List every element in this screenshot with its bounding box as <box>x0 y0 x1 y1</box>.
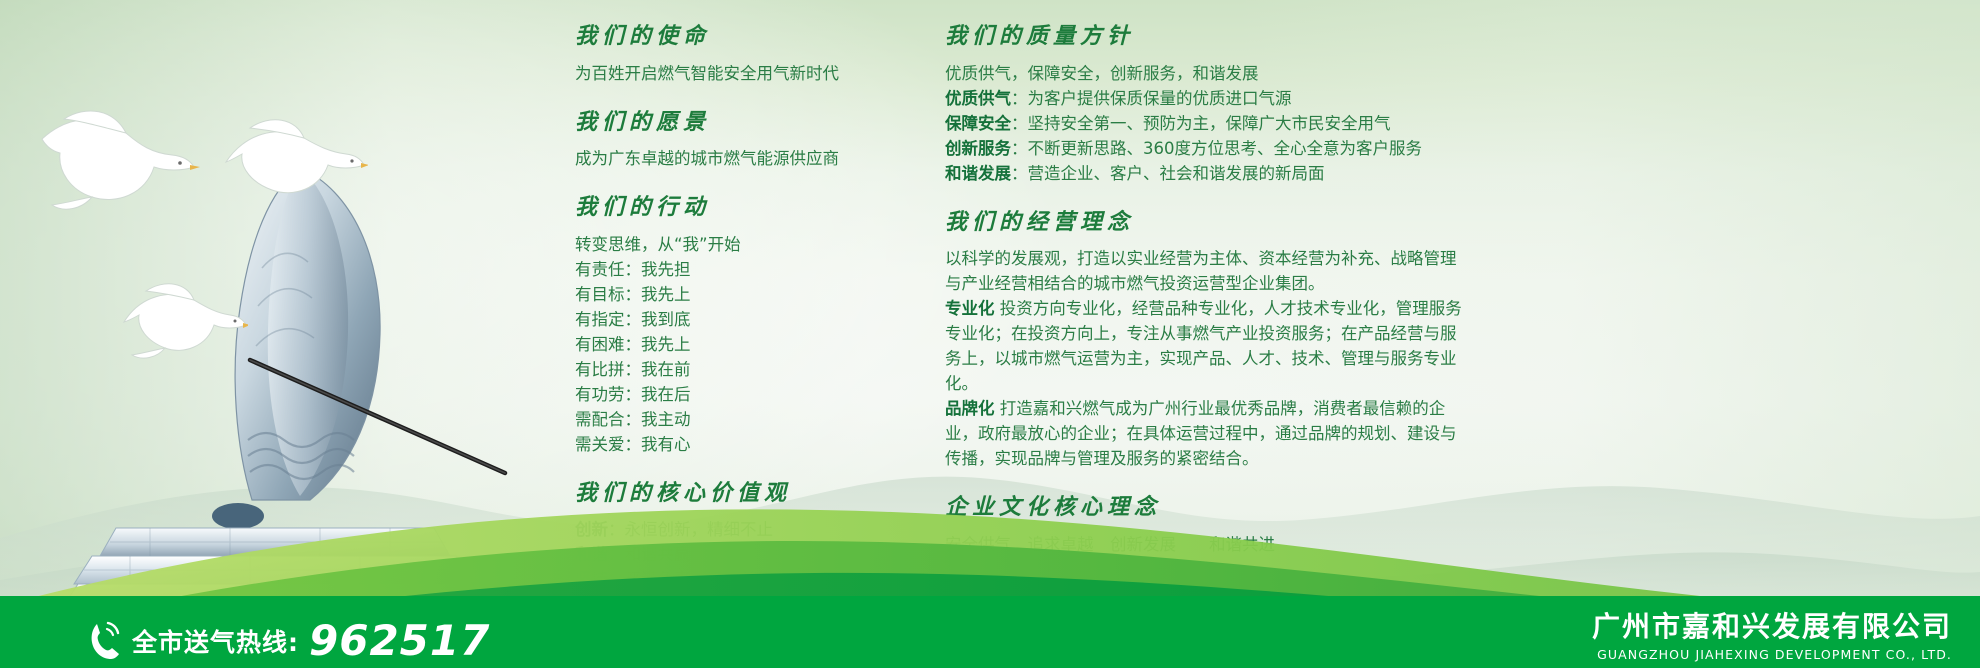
section-mission: 我们的使命 为百姓开启燃气智能安全用气新时代 <box>575 22 925 86</box>
management-philosophy-text: 投资方向专业化，经营品种专业化，人才技术专业化，管理服务专业化；在投资方向上，专… <box>945 299 1462 393</box>
dove-icon <box>218 112 368 204</box>
management-philosophy-lead: 品牌化 <box>945 399 995 418</box>
action-item: 需关爱：我有心 <box>575 432 925 457</box>
action-item: 有目标：我先上 <box>575 282 925 307</box>
dove-icon <box>30 105 210 215</box>
action-intro: 转变思维，从“我”开始 <box>575 232 925 257</box>
hotline-label: 全市送气热线: <box>132 623 299 659</box>
core-value-text: 严谨负责，坚持前行 <box>625 570 774 589</box>
quality-policy-text: 为客户提供保质保量的优质进口气源 <box>1028 89 1292 108</box>
core-value-item: 坚持：严谨负责，坚持前行 <box>575 567 925 592</box>
mission-line: 为百姓开启燃气智能安全用气新时代 <box>575 61 925 86</box>
right-text-column: 我们的质量方针 优质供气，保障安全，创新服务，和谐发展 优质供气：为客户提供保质… <box>945 22 1465 573</box>
management-philosophy-item: 品牌化 打造嘉和兴燃气成为广州行业最优秀品牌，消费者最信赖的企业，政府最放心的企… <box>945 396 1465 471</box>
section-culture-core: 企业文化核心理念 安全供气 追求卓越 创新发展 和谐共进 <box>945 493 1465 557</box>
section-vision: 我们的愿景 成为广东卓越的城市燃气能源供应商 <box>575 108 925 172</box>
quality-policy-lead: 优质供气 <box>945 89 1011 108</box>
vision-line: 成为广东卓越的城市燃气能源供应商 <box>575 146 925 171</box>
quality-policy-text: 不断更新思路、360度方位思考、全心全意为客户服务 <box>1028 139 1423 158</box>
quality-policy-lead: 保障安全 <box>945 114 1011 133</box>
action-item: 有责任：我先担 <box>575 257 925 282</box>
quality-policy-item: 保障安全：坚持安全第一、预防为主，保障广大市民安全用气 <box>945 111 1465 136</box>
core-value-lead: 创新 <box>575 520 608 539</box>
section-action: 我们的行动 转变思维，从“我”开始 有责任：我先担 有目标：我先上 有指定：我到… <box>575 193 925 457</box>
quality-policy-item: 创新服务：不断更新思路、360度方位思考、全心全意为客户服务 <box>945 136 1465 161</box>
culture-core-line: 安全供气 追求卓越 创新发展 和谐共进 <box>945 532 1465 557</box>
action-item: 需配合：我主动 <box>575 407 925 432</box>
action-item: 有困难：我先上 <box>575 332 925 357</box>
action-title: 我们的行动 <box>575 193 925 222</box>
management-philosophy-lead: 专业化 <box>945 299 995 318</box>
core-values-title: 我们的核心价值观 <box>575 479 925 508</box>
management-philosophy-title: 我们的经营理念 <box>945 208 1465 237</box>
hotline-block: 全市送气热线: 962517 <box>88 620 490 662</box>
company-block: 广州市嘉和兴发展有限公司 GUANGZHOU JIAHEXING DEVELOP… <box>1592 610 1952 662</box>
stone-monument-illustration <box>0 148 560 668</box>
section-management-philosophy: 我们的经营理念 以科学的发展观，打造以实业经营为主体、资本经营为补充、战略管理与… <box>945 208 1465 472</box>
poster-root: 我们的使命 为百姓开启燃气智能安全用气新时代 我们的愿景 成为广东卓越的城市燃气… <box>0 0 1980 668</box>
core-value-sep: ： <box>608 545 625 564</box>
core-value-lead: 坚持 <box>575 570 608 589</box>
quality-policy-text: 营造企业、客户、社会和谐发展的新局面 <box>1028 164 1325 183</box>
quality-policy-title: 我们的质量方针 <box>945 22 1465 51</box>
management-philosophy-item: 专业化 投资方向专业化，经营品种专业化，人才技术专业化，管理服务专业化；在投资方… <box>945 296 1465 396</box>
core-value-item: 创新：永恒创新，精细不止 <box>575 517 925 542</box>
company-name-en: GUANGZHOU JIAHEXING DEVELOPMENT CO., LTD… <box>1592 647 1952 662</box>
quality-policy-sep: ： <box>1011 164 1028 183</box>
left-text-column: 我们的使命 为百姓开启燃气智能安全用气新时代 我们的愿景 成为广东卓越的城市燃气… <box>575 22 925 614</box>
dove-icon <box>118 278 248 360</box>
quality-policy-lead: 和谐发展 <box>945 164 1011 183</box>
mission-title: 我们的使命 <box>575 22 925 51</box>
quality-policy-lead: 创新服务 <box>945 139 1011 158</box>
hotline-number: 962517 <box>309 620 490 662</box>
company-name-cn: 广州市嘉和兴发展有限公司 <box>1592 610 1952 644</box>
phone-icon <box>88 621 122 661</box>
core-value-lead: 和谐 <box>575 545 608 564</box>
quality-policy-sep: ： <box>1011 89 1028 108</box>
action-item: 有比拼：我在前 <box>575 357 925 382</box>
action-item: 有功劳：我在后 <box>575 382 925 407</box>
quality-policy-sep: ： <box>1011 139 1028 158</box>
section-quality-policy: 我们的质量方针 优质供气，保障安全，创新服务，和谐发展 优质供气：为客户提供保质… <box>945 22 1465 186</box>
core-value-text: 和谐共赢 <box>625 545 691 564</box>
core-value-sep: ： <box>608 570 625 589</box>
core-value-item: 和谐：和谐共赢 <box>575 542 925 567</box>
quality-policy-item: 和谐发展：营造企业、客户、社会和谐发展的新局面 <box>945 161 1465 186</box>
quality-policy-text: 坚持安全第一、预防为主，保障广大市民安全用气 <box>1028 114 1391 133</box>
section-core-values: 我们的核心价值观 创新：永恒创新，精细不止 和谐：和谐共赢 坚持：严谨负责，坚持… <box>575 479 925 593</box>
culture-core-title: 企业文化核心理念 <box>945 493 1465 522</box>
quality-policy-summary: 优质供气，保障安全，创新服务，和谐发展 <box>945 61 1465 86</box>
quality-policy-sep: ： <box>1011 114 1028 133</box>
vision-title: 我们的愿景 <box>575 108 925 137</box>
management-philosophy-intro: 以科学的发展观，打造以实业经营为主体、资本经营为补充、战略管理与产业经营相结合的… <box>945 246 1465 296</box>
management-philosophy-text: 打造嘉和兴燃气成为广州行业最优秀品牌，消费者最信赖的企业，政府最放心的企业；在具… <box>945 399 1457 468</box>
action-item: 有指定：我到底 <box>575 307 925 332</box>
quality-policy-item: 优质供气：为客户提供保质保量的优质进口气源 <box>945 86 1465 111</box>
core-value-sep: ： <box>608 520 625 539</box>
core-value-text: 永恒创新，精细不止 <box>625 520 774 539</box>
